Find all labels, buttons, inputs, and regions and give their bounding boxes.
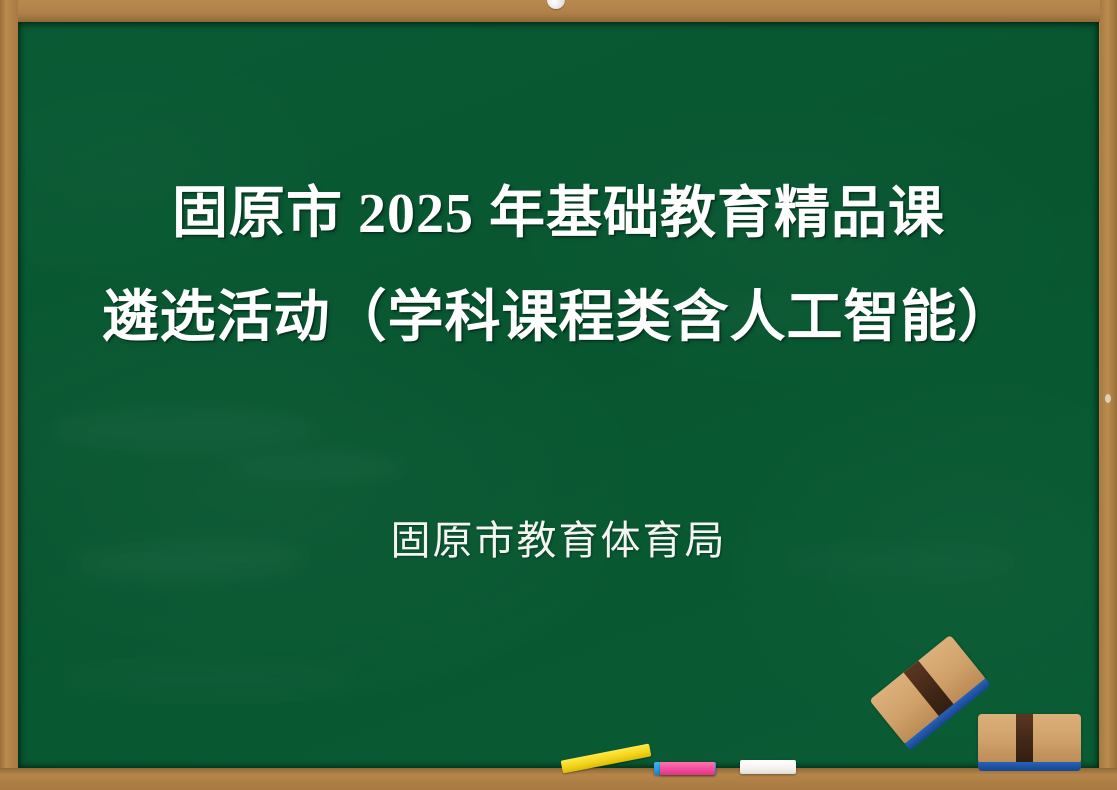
- issuing-authority: 固原市教育体育局: [0, 508, 1117, 566]
- title-line-1: 固原市 2025 年基础教育精品课: [0, 162, 1117, 266]
- eraser-band: [1016, 714, 1033, 764]
- chalk-smudge: [58, 662, 358, 698]
- flat-eraser-icon: [978, 714, 1081, 764]
- eraser-felt: [978, 762, 1081, 771]
- page-title: 固原市 2025 年基础教育精品课 遴选活动（学科课程类含人工智能）: [0, 162, 1117, 370]
- chalkboard-slide: 固原市 2025 年基础教育精品课 遴选活动（学科课程类含人工智能） 固原市教育…: [0, 0, 1117, 790]
- pink-chalk-icon: [660, 762, 715, 775]
- frame-bottom-chalk-tray: [0, 768, 1117, 790]
- eraser-body: [978, 714, 1081, 764]
- chalk-smudge: [228, 452, 408, 482]
- chalk-smudge: [48, 407, 318, 453]
- frame-left-rail: [0, 0, 18, 790]
- white-chalk-icon: [740, 760, 796, 774]
- right-frame-screw-icon: [1105, 394, 1111, 403]
- title-line-2: 遴选活动（学科课程类含人工智能）: [0, 266, 1117, 370]
